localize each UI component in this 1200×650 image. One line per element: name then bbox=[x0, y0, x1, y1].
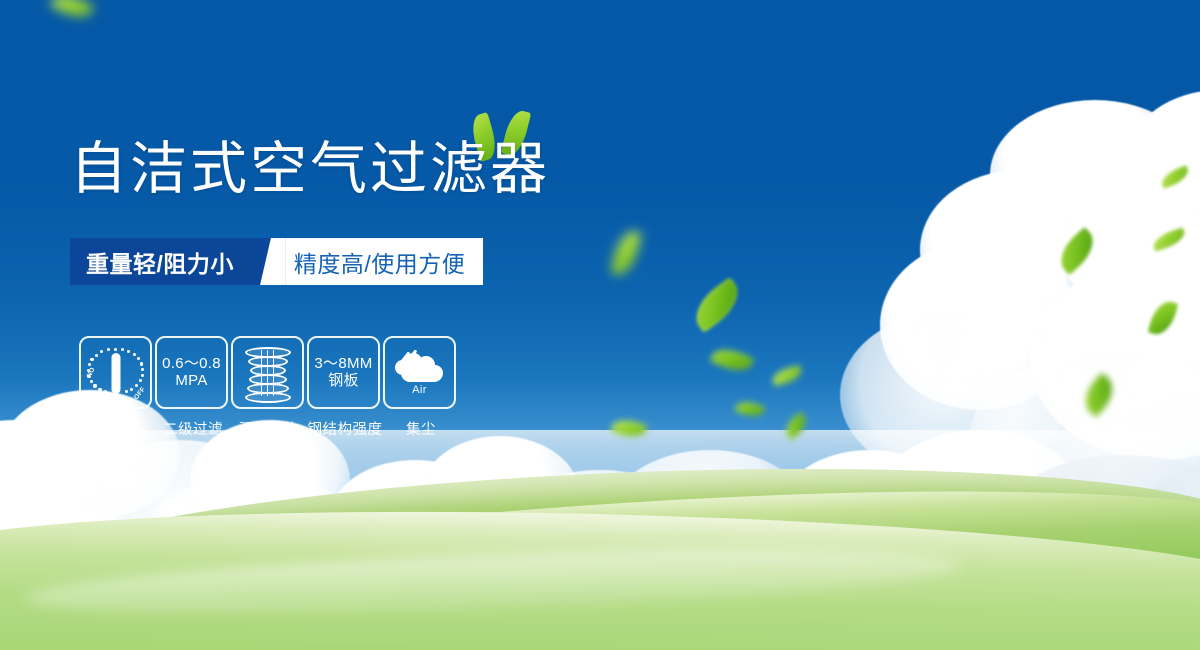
feature-label-blowback: 强力反吹 bbox=[231, 418, 307, 439]
feature-item-blowback[interactable]: 强力反吹 bbox=[231, 336, 307, 439]
feature-box-controller[interactable]: NO OFF bbox=[79, 336, 152, 409]
cloud-air-icon bbox=[395, 350, 445, 382]
feature-box-blowback[interactable] bbox=[231, 336, 304, 409]
feature-label-steel-strength: 钢结构强度 bbox=[307, 418, 383, 439]
pressure-value-line1: 0.6～0.8 bbox=[162, 356, 221, 373]
feature-label-two-stage-filter: 二级过滤 bbox=[155, 418, 231, 439]
subtitle-right-text: 精度高/使用方便 bbox=[286, 238, 483, 285]
gauge-on-label: NO bbox=[85, 366, 96, 378]
feature-icon-row: NO OFF 控制仪 0.6～0.8 MPA 二级过滤 bbox=[79, 336, 459, 439]
feature-label-controller: 控制仪 bbox=[79, 418, 155, 439]
gauge-needle bbox=[111, 353, 120, 394]
pressure-value-line2: MPA bbox=[175, 373, 207, 390]
gauge-off-label: OFF bbox=[133, 385, 147, 400]
subtitle-diagonal-divider bbox=[252, 238, 286, 285]
product-banner: 自洁式空气过滤器 重量轻/阻力小 精度高/使用方便 bbox=[0, 0, 1200, 650]
feature-box-dust-collection[interactable]: Air bbox=[383, 336, 456, 409]
feature-item-dust-collection[interactable]: Air 集尘 bbox=[383, 336, 459, 439]
feature-box-steel-strength[interactable]: 3～8MM 钢板 bbox=[307, 336, 380, 409]
feature-box-two-stage-filter[interactable]: 0.6～0.8 MPA bbox=[155, 336, 228, 409]
feature-item-two-stage-filter[interactable]: 0.6～0.8 MPA 二级过滤 bbox=[155, 336, 231, 439]
feature-item-controller[interactable]: NO OFF 控制仪 bbox=[79, 336, 155, 439]
gauge-icon: NO OFF bbox=[86, 344, 146, 402]
steel-value-line1: 3～8MM bbox=[314, 356, 372, 373]
page-title: 自洁式空气过滤器 bbox=[70, 140, 550, 200]
cloud-air-label: Air bbox=[412, 384, 427, 396]
feature-label-dust-collection: 集尘 bbox=[383, 418, 459, 439]
coil-filter-icon bbox=[246, 346, 290, 400]
steel-value-line2: 钢板 bbox=[328, 373, 359, 390]
subtitle-left-text: 重量轻/阻力小 bbox=[70, 238, 252, 285]
subtitle-bar: 重量轻/阻力小 精度高/使用方便 bbox=[70, 238, 483, 285]
feature-item-steel-strength[interactable]: 3～8MM 钢板 钢结构强度 bbox=[307, 336, 383, 439]
